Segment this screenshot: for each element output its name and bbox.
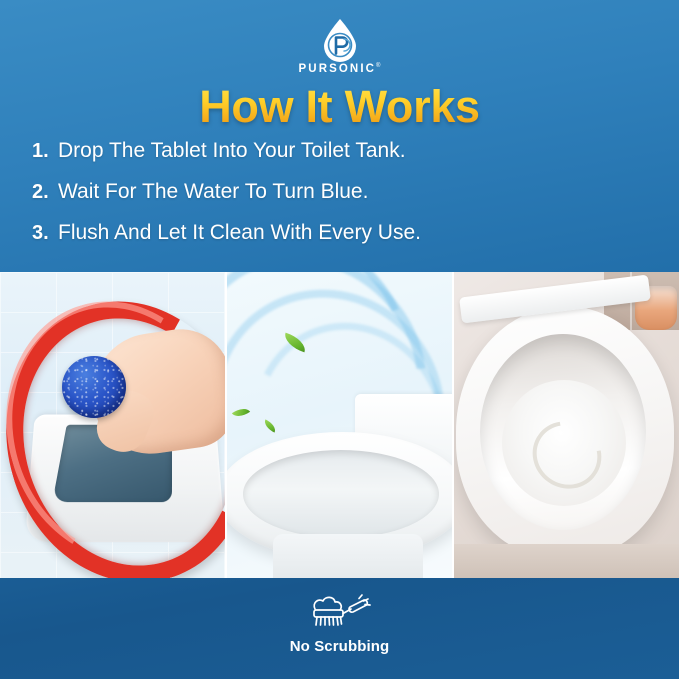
footer-label: No Scrubbing bbox=[290, 638, 390, 655]
water-droplet-p-logo-icon bbox=[320, 18, 360, 62]
registered-trademark-symbol: ® bbox=[376, 63, 380, 69]
toilet-bowl-rim bbox=[243, 450, 439, 538]
step-text: Wait For The Water To Turn Blue. bbox=[58, 181, 368, 202]
bathroom-floor bbox=[454, 544, 679, 578]
step-number: 2. bbox=[32, 182, 58, 202]
step-number: 1. bbox=[32, 141, 58, 161]
blue-tablet bbox=[62, 356, 126, 418]
photo-panel-water-turns-blue bbox=[227, 272, 452, 578]
toilet-base bbox=[273, 534, 423, 578]
list-item: 3. Flush And Let It Clean With Every Use… bbox=[32, 222, 647, 243]
step-text: Drop The Tablet Into Your Toilet Tank. bbox=[58, 140, 406, 161]
scrub-brush-icon bbox=[302, 592, 378, 634]
brand-header: PURSONIC® bbox=[0, 18, 679, 78]
photo-strip bbox=[0, 272, 679, 578]
footer: No Scrubbing bbox=[0, 592, 679, 655]
step-text: Flush And Let It Clean With Every Use. bbox=[58, 222, 421, 243]
step-number: 3. bbox=[32, 223, 58, 243]
list-item: 1. Drop The Tablet Into Your Toilet Tank… bbox=[32, 140, 647, 161]
brand-wordmark: PURSONIC® bbox=[299, 63, 381, 75]
how-it-works-infographic: PURSONIC® How It Works 1. Drop The Table… bbox=[0, 0, 679, 679]
photo-panel-drop-tablet bbox=[0, 272, 225, 578]
steps-list: 1. Drop The Tablet Into Your Toilet Tank… bbox=[32, 140, 647, 263]
brand-wordmark-text: PURSONIC bbox=[299, 63, 377, 75]
photo-panel-flush-clean bbox=[454, 272, 679, 578]
list-item: 2. Wait For The Water To Turn Blue. bbox=[32, 181, 647, 202]
page-title: How It Works bbox=[0, 84, 679, 129]
